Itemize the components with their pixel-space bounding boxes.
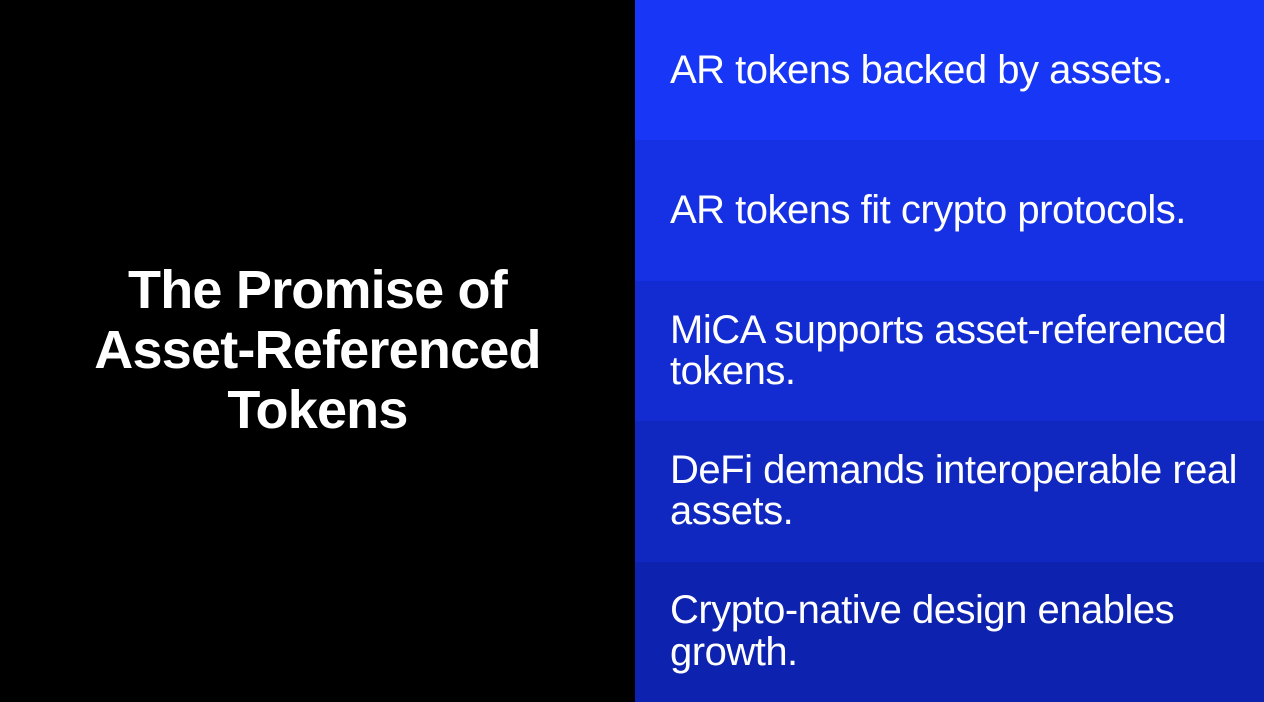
point-row: MiCA supports asset-referenced tokens. xyxy=(635,281,1264,421)
title-panel: The Promise of Asset-Referenced Tokens xyxy=(0,0,635,702)
point-row: AR tokens fit crypto protocols. xyxy=(635,140,1264,280)
point-text: AR tokens backed by assets. xyxy=(670,50,1172,91)
point-row: DeFi demands interoperable real assets. xyxy=(635,421,1264,561)
slide-root: The Promise of Asset-Referenced Tokens A… xyxy=(0,0,1264,702)
point-text: Crypto-native design enables growth. xyxy=(670,590,1238,673)
point-text: AR tokens fit crypto protocols. xyxy=(670,190,1186,231)
slide-title: The Promise of Asset-Referenced Tokens xyxy=(94,261,540,441)
point-row: AR tokens backed by assets. xyxy=(635,0,1264,140)
point-text: DeFi demands interoperable real assets. xyxy=(670,450,1238,533)
point-text: MiCA supports asset-referenced tokens. xyxy=(670,310,1238,393)
points-panel: AR tokens backed by assets. AR tokens fi… xyxy=(635,0,1264,702)
point-row: Crypto-native design enables growth. xyxy=(635,562,1264,702)
